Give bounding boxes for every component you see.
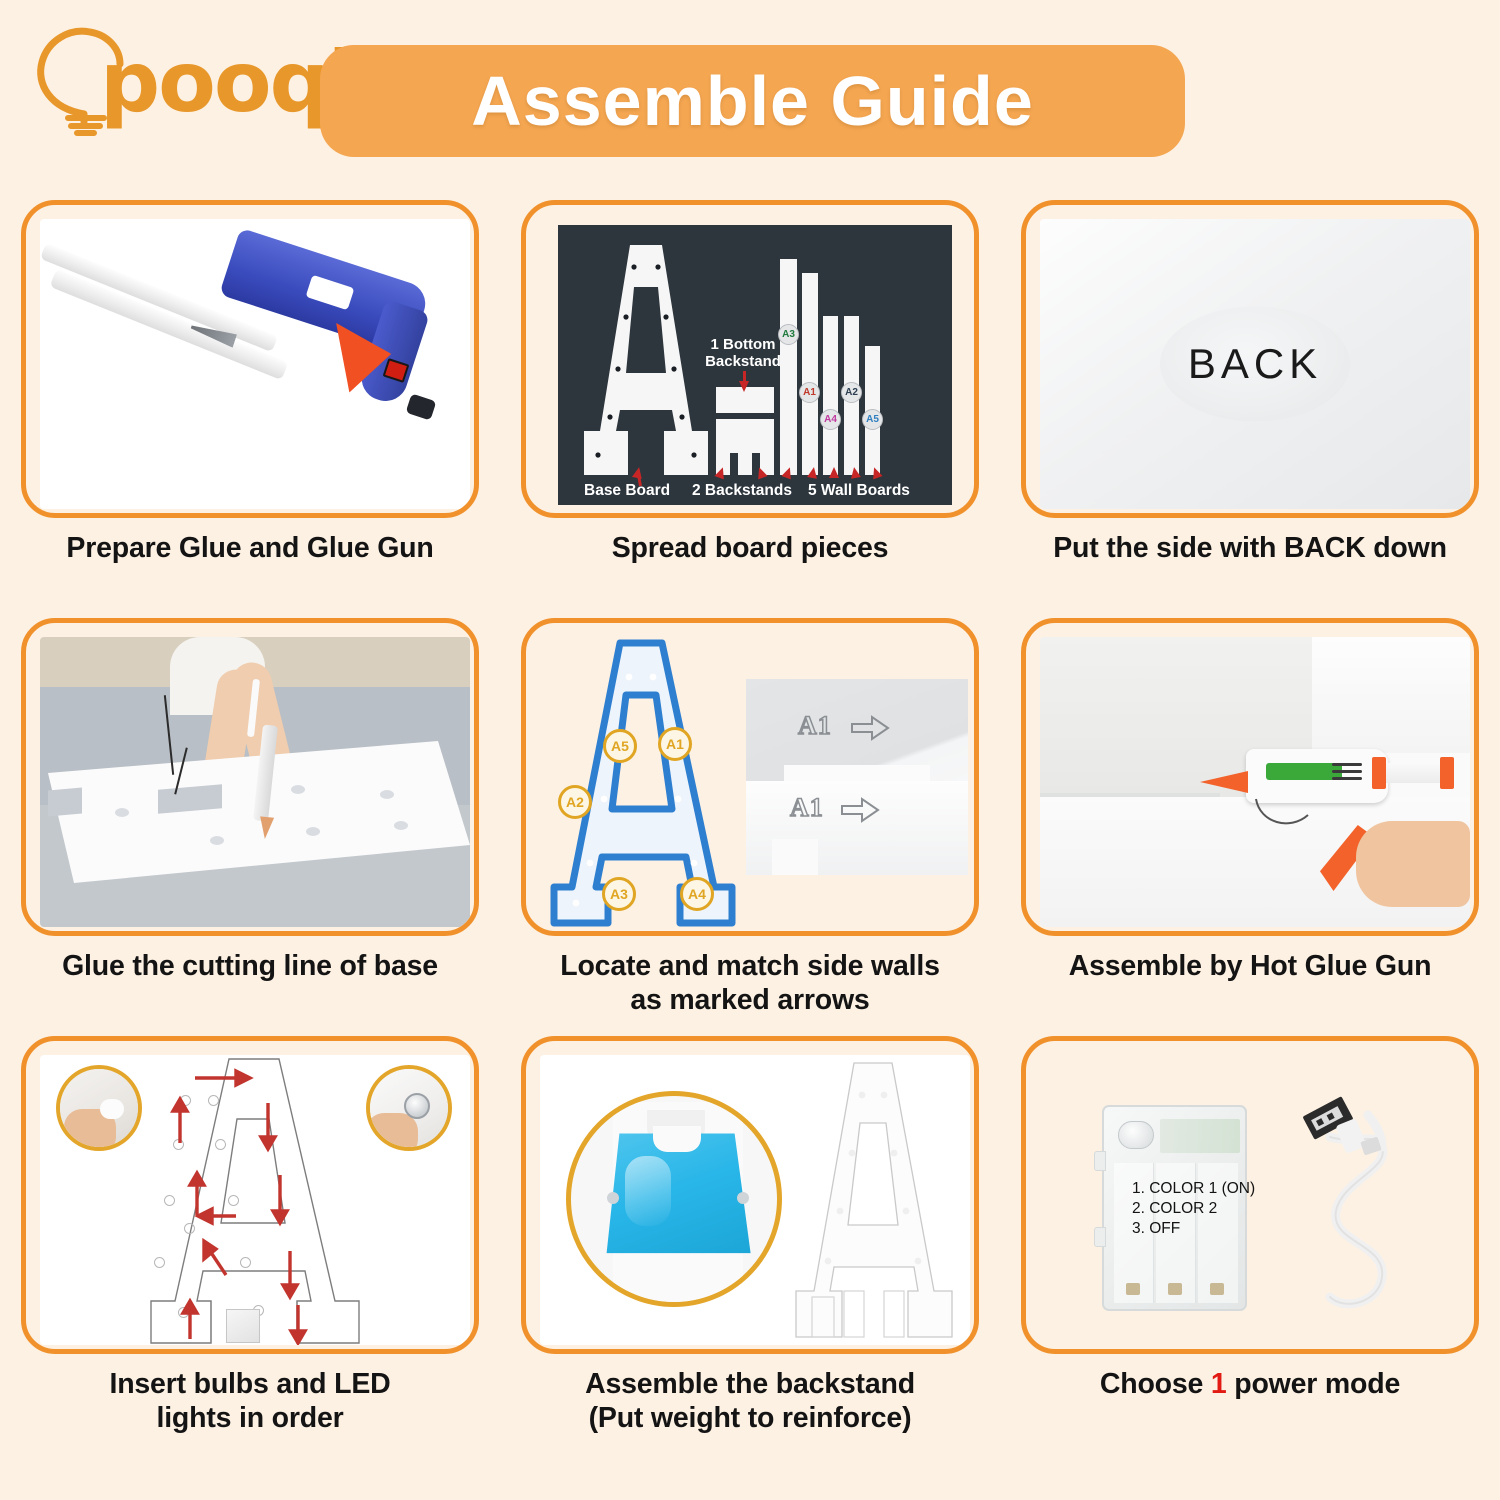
- step-3-image: BACK: [1040, 219, 1470, 509]
- badge-a1: A1: [658, 727, 692, 761]
- step-8-frame: [521, 1036, 979, 1354]
- step-9-caption-highlight: 1: [1211, 1368, 1227, 1400]
- step-7-caption-line2: lights in order: [156, 1402, 343, 1434]
- badge-a5: A5: [862, 409, 883, 430]
- page-title: Assemble Guide: [471, 61, 1034, 141]
- page-header: pooqla Assemble Guide: [0, 0, 1500, 185]
- step-2-caption: Spread board pieces: [612, 532, 889, 566]
- label-backstands: 2 Backstands: [692, 482, 792, 500]
- step-card-4: Glue the cutting line of base: [0, 618, 500, 1036]
- step-4-frame: [21, 618, 479, 936]
- glue-gun-green-label: [1266, 763, 1342, 780]
- badge-a3: A3: [602, 877, 636, 911]
- step-7-caption-line1: Insert bulbs and LED: [109, 1368, 390, 1400]
- label-base-board: Base Board: [584, 482, 670, 500]
- led-battery-box: [226, 1309, 260, 1343]
- step-2-frame: 1 Bottom Backstand A3 A1 A4 A2 A5: [521, 200, 979, 518]
- glue-applicator-tip: [258, 816, 274, 839]
- battery-box-switch: [1118, 1121, 1154, 1149]
- battery-box-tab-bottom: [1094, 1227, 1106, 1247]
- badge-a4: A4: [820, 409, 841, 430]
- step-5-image: A5 A1 A2 A3 A4 A1: [540, 637, 970, 927]
- label-wall-boards: 5 Wall Boards: [808, 482, 910, 500]
- step-9-frame: 1. COLOR 1 (ON) 2. COLOR 2 3. OFF: [1021, 1036, 1479, 1354]
- step-card-3: BACK Put the side with BACK down: [1000, 200, 1500, 618]
- hand-holding-gun: [1356, 821, 1470, 907]
- letter-wall-right: [1312, 637, 1470, 753]
- power-mode-1: 1. COLOR 1 (ON): [1132, 1179, 1255, 1199]
- glue-seam: [1040, 793, 1220, 797]
- step-8-caption-line2: (Put weight to reinforce): [589, 1402, 912, 1434]
- label-bottom-backstand-line1: 1 Bottom: [711, 336, 776, 353]
- base-board-tab: [772, 839, 818, 875]
- backstand-bottom: [716, 419, 774, 475]
- step-1-caption: Prepare Glue and Glue Gun: [66, 532, 433, 566]
- bag-highlight: [625, 1156, 671, 1226]
- step-7-image: [40, 1055, 470, 1345]
- step-6-caption: Assemble by Hot Glue Gun: [1069, 950, 1432, 984]
- step-card-6: Assemble by Hot Glue Gun: [1000, 618, 1500, 1036]
- wall-board-edge: [784, 765, 930, 781]
- power-mode-list: 1. COLOR 1 (ON) 2. COLOR 2 3. OFF: [1132, 1179, 1255, 1238]
- badge-a2: A2: [841, 382, 862, 403]
- step-5-frame: A5 A1 A2 A3 A4 A1: [521, 618, 979, 936]
- bulb-socket-inset: [404, 1093, 430, 1119]
- step-1-frame: [21, 200, 479, 518]
- label-bottom-backstand-line2: Backstand: [705, 353, 781, 370]
- a1-mark-top: A1: [798, 711, 832, 741]
- step-7-caption: Insert bulbs and LED lights in order: [109, 1368, 390, 1435]
- step-9-caption: Choose 1 power mode: [1100, 1368, 1400, 1402]
- brand-logo: pooqla: [22, 18, 312, 138]
- badge-a3: A3: [778, 324, 799, 345]
- bag-handle: [653, 1126, 701, 1152]
- step-card-7: Insert bulbs and LED lights in order: [0, 1036, 500, 1460]
- badge-a4: A4: [680, 877, 714, 911]
- glue-stick-collar: [1372, 757, 1386, 789]
- wall-board-a4: [823, 316, 838, 475]
- glue-stick-collar-2: [1440, 757, 1454, 789]
- step-8-caption-line1: Assemble the backstand: [585, 1368, 915, 1400]
- wall-board-a3: [780, 259, 797, 475]
- step-4-image: [40, 637, 470, 927]
- badge-a2: A2: [558, 785, 592, 819]
- step-3-caption: Put the side with BACK down: [1053, 532, 1447, 566]
- step-card-2: 1 Bottom Backstand A3 A1 A4 A2 A5: [500, 200, 1000, 618]
- arrow-right-icon-bottom: [840, 797, 880, 823]
- step-card-5: A5 A1 A2 A3 A4 A1: [500, 618, 1000, 1036]
- side-wall-photo: A1 A1: [746, 679, 968, 875]
- step-card-8: Assemble the backstand (Put weight to re…: [500, 1036, 1000, 1460]
- inset-bulb-screw: [366, 1065, 452, 1151]
- hand-inset-right: [366, 1113, 418, 1151]
- step-6-image: [1040, 637, 1470, 927]
- step-7-frame: [21, 1036, 479, 1354]
- badge-a5: A5: [603, 729, 637, 763]
- back-label-text: BACK: [1188, 340, 1322, 388]
- a1-mark-bottom: A1: [790, 793, 824, 823]
- bulb-inset-left: [100, 1099, 124, 1119]
- step-1-image: [40, 219, 470, 509]
- assemble-guide-page: pooqla Assemble Guide: [0, 0, 1500, 1500]
- power-mode-3: 3. OFF: [1132, 1219, 1255, 1239]
- gun-wire-hook: [1254, 797, 1314, 835]
- wall-board-a1: [802, 273, 818, 475]
- step-5-caption-line1: Locate and match side walls: [560, 950, 939, 982]
- step-4-caption: Glue the cutting line of base: [62, 950, 438, 984]
- step-5-caption: Locate and match side walls as marked ar…: [560, 950, 939, 1017]
- backstand-screw-right: [737, 1192, 749, 1204]
- arrow-right-icon-top: [850, 715, 890, 741]
- step-8-image: [540, 1055, 970, 1345]
- step-9-image: 1. COLOR 1 (ON) 2. COLOR 2 3. OFF: [1040, 1055, 1470, 1345]
- inset-bulb-insert: [56, 1065, 142, 1151]
- step-8-caption: Assemble the backstand (Put weight to re…: [585, 1368, 915, 1435]
- step-card-9: 1. COLOR 1 (ON) 2. COLOR 2 3. OFF: [1000, 1036, 1500, 1460]
- battery-terminal-1: [1126, 1283, 1140, 1295]
- power-mode-2: 2. COLOR 2: [1132, 1199, 1255, 1219]
- battery-box-tab-top: [1094, 1151, 1106, 1171]
- steps-grid: Prepare Glue and Glue Gun: [0, 200, 1500, 1500]
- battery-terminal-3: [1210, 1283, 1224, 1295]
- battery-terminal-2: [1168, 1283, 1182, 1295]
- badge-a1: A1: [799, 382, 820, 403]
- step-9-caption-prefix: Choose: [1100, 1368, 1211, 1400]
- hot-glue-gun-tip: [1200, 771, 1248, 793]
- step-5-caption-line2: as marked arrows: [630, 984, 869, 1016]
- board-slot-1: [48, 788, 82, 817]
- step-2-image: 1 Bottom Backstand A3 A1 A4 A2 A5: [540, 219, 970, 509]
- backstand-screw-left: [607, 1192, 619, 1204]
- page-title-banner: Assemble Guide: [320, 45, 1185, 157]
- step-3-frame: BACK: [1021, 200, 1479, 518]
- step-card-1: Prepare Glue and Glue Gun: [0, 200, 500, 618]
- inset-water-bag-weight: [566, 1091, 782, 1307]
- step-9-caption-suffix: power mode: [1227, 1368, 1401, 1400]
- letter-a-with-backstand: [788, 1061, 956, 1339]
- battery-box-circuit: [1160, 1119, 1240, 1153]
- step-6-frame: [1021, 618, 1479, 936]
